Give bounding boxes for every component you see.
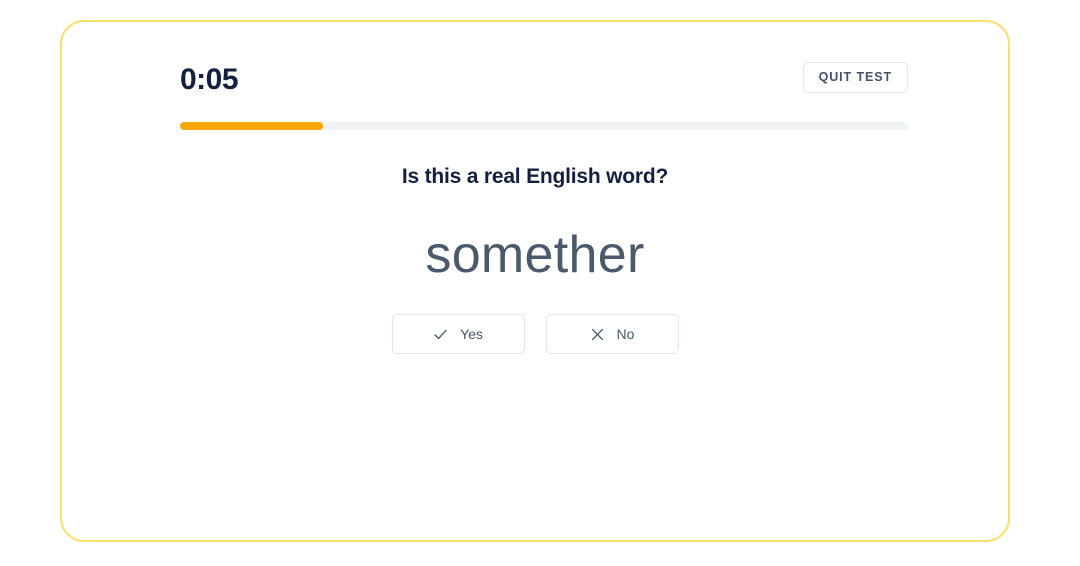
- progress-bar-fill: [180, 122, 323, 130]
- test-card: 0:05 QUIT TEST Is this a real English wo…: [60, 20, 1010, 542]
- word-display: somether: [62, 224, 1008, 286]
- timer-display: 0:05: [180, 60, 238, 100]
- question-area: Is this a real English word? somether Ye…: [62, 162, 1008, 354]
- answer-label-no: No: [617, 327, 635, 341]
- close-icon: [590, 327, 605, 342]
- question-prompt: Is this a real English word?: [62, 162, 1008, 192]
- answer-row: Yes No: [62, 314, 1008, 354]
- card-header: 0:05 QUIT TEST: [180, 60, 908, 100]
- answer-button-yes[interactable]: Yes: [392, 314, 525, 354]
- answer-label-yes: Yes: [460, 327, 483, 341]
- app-root: 0:05 QUIT TEST Is this a real English wo…: [0, 0, 1080, 566]
- quit-test-button[interactable]: QUIT TEST: [803, 62, 908, 93]
- progress-bar-track: [180, 122, 908, 130]
- answer-button-no[interactable]: No: [546, 314, 679, 354]
- check-icon: [433, 327, 448, 342]
